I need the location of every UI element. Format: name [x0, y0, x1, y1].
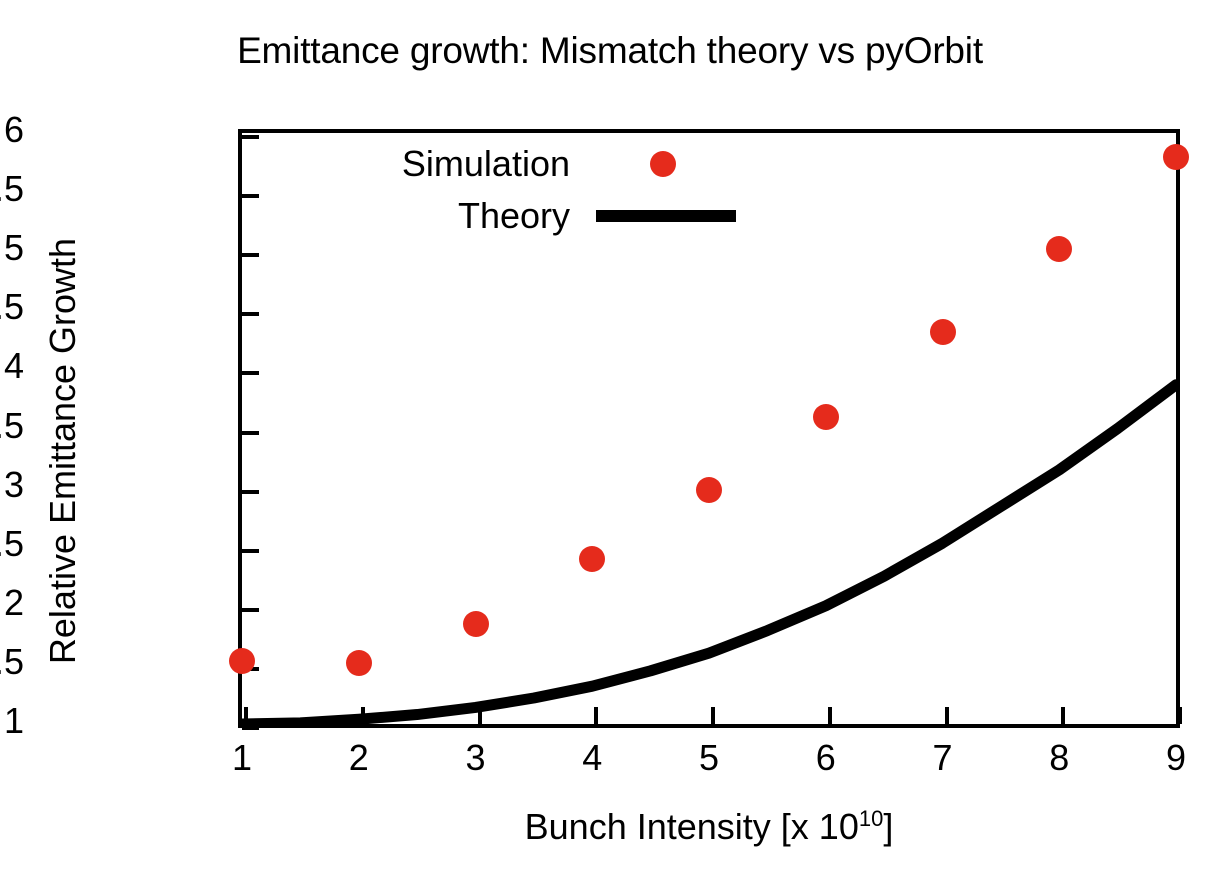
legend-entry-theory: Theory [268, 190, 738, 242]
y-axis-tick-mark [242, 431, 259, 435]
y-axis-tick-mark [242, 194, 259, 198]
x-axis-tick-label: 9 [1146, 740, 1206, 776]
y-axis-tick-label: 4 [4, 348, 24, 384]
y-axis-tick-mark [242, 371, 259, 375]
x-axis-title-suffix: ] [883, 806, 893, 847]
data-point-marker [1046, 236, 1072, 262]
x-axis-tick-mark [1178, 707, 1182, 724]
data-point-marker [1163, 144, 1189, 170]
y-axis-tick-mark [242, 490, 259, 494]
y-axis-tick-mark [242, 726, 259, 730]
y-axis-tick-label: 2 [4, 585, 24, 621]
x-axis-tick-label: 2 [329, 740, 389, 776]
x-axis-tick-label: 7 [913, 740, 973, 776]
x-axis-tick-mark [711, 707, 715, 724]
data-point-marker [463, 611, 489, 637]
x-axis-tick-label: 8 [1029, 740, 1089, 776]
y-axis-tick-label: 3 [4, 467, 24, 503]
x-axis-tick-mark [828, 707, 832, 724]
x-axis-tick-mark [945, 707, 949, 724]
legend-key-simulation [588, 146, 738, 182]
legend-key-theory [588, 198, 738, 234]
data-point-marker [346, 650, 372, 676]
y-axis-tick-mark [242, 549, 259, 553]
legend-marker-dot-icon [650, 151, 676, 177]
y-axis-tick-label: 2.5 [0, 526, 24, 562]
y-axis-tick-label: 1.5 [0, 644, 24, 680]
legend-label-simulation: Simulation [402, 143, 588, 185]
x-axis-tick-mark [478, 707, 482, 724]
y-axis-tick-label: 3.5 [0, 408, 24, 444]
legend-entry-simulation: Simulation [268, 138, 738, 190]
y-axis-title: Relative Emittance Growth [42, 141, 84, 761]
x-axis-tick-label: 4 [562, 740, 622, 776]
data-point-marker [930, 319, 956, 345]
chart-title: Emittance growth: Mismatch theory vs pyO… [0, 30, 1220, 72]
y-axis-tick-label: 5 [4, 230, 24, 266]
y-axis-tick-label: 6 [4, 112, 24, 148]
x-axis-tick-label: 6 [796, 740, 856, 776]
legend-label-theory: Theory [458, 195, 588, 237]
y-axis-tick-mark [242, 135, 259, 139]
y-axis-tick-label: 4.5 [0, 289, 24, 325]
y-axis-tick-label: 1 [4, 703, 24, 739]
x-axis-tick-label: 3 [446, 740, 506, 776]
x-axis-title-exponent: 10 [859, 806, 883, 831]
x-axis-tick-mark [244, 707, 248, 724]
x-axis-title: Bunch Intensity [x 1010] [238, 806, 1180, 848]
x-axis-tick-label: 1 [212, 740, 272, 776]
data-point-marker [696, 477, 722, 503]
x-axis-title-prefix: Bunch Intensity [x 10 [525, 806, 859, 847]
y-axis-tick-label: 5.5 [0, 171, 24, 207]
x-axis-tick-mark [594, 707, 598, 724]
x-axis-tick-mark [361, 707, 365, 724]
data-point-marker [813, 404, 839, 430]
chart-legend: Simulation Theory [268, 138, 738, 242]
y-axis-tick-mark [242, 312, 259, 316]
y-axis-tick-mark [242, 253, 259, 257]
x-axis-tick-label: 5 [679, 740, 739, 776]
legend-marker-line-icon [596, 210, 736, 222]
x-axis-tick-mark [1061, 707, 1065, 724]
y-axis-tick-mark [242, 608, 259, 612]
chart-figure: Emittance growth: Mismatch theory vs pyO… [0, 0, 1220, 890]
data-point-marker [579, 546, 605, 572]
